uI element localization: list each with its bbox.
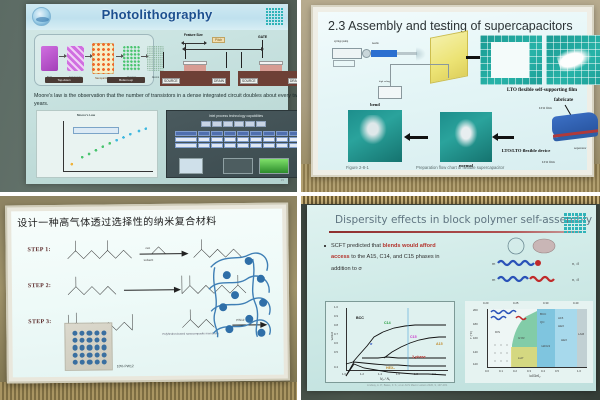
label-source-1: SOURCE <box>162 78 180 84</box>
arrow-to-normal <box>498 136 514 139</box>
membrane-sample-photo <box>64 322 113 371</box>
projection-screen: 设计一种高气体透过选择性的纳米复合材料 STEP 1: STEP 2: STEP… <box>11 209 284 378</box>
annotation-c14: C14 <box>384 321 391 325</box>
technology-roadmap-table: Intel process technology capabilities <box>166 110 297 178</box>
svg-text:cat.: cat. <box>146 246 151 250</box>
temperature-composition-phase-diagram: 0.20 0.25 0.30 0.40 200 180 160 140 120 … <box>465 301 593 383</box>
svg-text:m: m <box>492 261 496 266</box>
step-2-label: STEP 2: <box>28 283 51 289</box>
display-frame: 2.3 Assembly and testing of supercapacit… <box>311 5 594 177</box>
label-fabricate: fabricate <box>554 98 573 103</box>
step-1-label: STEP 1: <box>28 247 51 253</box>
arrow-to-film <box>466 56 480 59</box>
annotation-bcc: BCC <box>356 316 364 320</box>
panel-photolithography: Photolithography Bulk Fragments <box>0 0 297 192</box>
wood-slat-wall <box>0 382 297 400</box>
svg-text:LAM: LAM <box>578 332 585 336</box>
svg-text:n, đ: n, đ <box>572 277 579 282</box>
svg-text:GYR: GYR <box>518 336 525 340</box>
figure-caption-text: Preparation flow chart of flexible super… <box>416 165 504 170</box>
label-feature-size: Feature Size <box>184 33 203 37</box>
photo-grid: Photolithography Bulk Fragments <box>0 0 600 400</box>
annotation-sigma: σ <box>370 342 372 346</box>
electrospinning-apparatus: syringe pump needle <box>332 38 424 82</box>
svg-text:\u03c3: \u03c3 <box>541 344 550 348</box>
label-drain-2: DRAIN <box>288 78 297 84</box>
wood-slat-wall <box>301 196 600 204</box>
annotation-hex: HEX₂ <box>386 366 395 370</box>
svg-text:DIS: DIS <box>495 330 500 334</box>
label-pitch: Pitch <box>212 37 225 43</box>
svg-text:BCC: BCC <box>540 312 547 316</box>
figure-number: Figure 2-8-1 <box>346 165 369 170</box>
lto-film-photo-2 <box>546 35 600 85</box>
label-gate: GATE <box>258 35 267 39</box>
page-title: Photolithography <box>26 7 288 22</box>
moores-law-chart: Moore's Law <box>36 110 158 178</box>
annotation-2phase: 2-phase <box>412 355 426 359</box>
svg-text:n, đ: n, đ <box>572 261 579 266</box>
label-drain-1: DRAIN <box>212 78 226 84</box>
panel-nanocomposite: 设计一种高气体透过选择性的纳米复合材料 STEP 1: STEP 2: STEP… <box>0 196 297 400</box>
flow-step-nanoparticles: Nanoparticles <box>92 43 114 74</box>
slide-page-number: 15 <box>281 178 284 182</box>
teal-grid-icon <box>266 8 283 25</box>
projection-screen: Photolithography Bulk Fragments <box>26 4 288 184</box>
transistor-cross-section: SOURCE DRAIN SOURCE DRAIN GATE Feature S… <box>160 34 297 86</box>
normal-device-photo <box>440 112 492 162</box>
flexible-device-illustration <box>552 112 600 146</box>
step-3-label: STEP 3: <box>28 319 51 325</box>
title-underline <box>329 231 581 233</box>
label-lto-film: LTO flexible self-supporting film <box>478 88 600 93</box>
collector-plate <box>430 30 468 83</box>
page-title: 设计一种高气体透过选择性的纳米复合材料 <box>17 212 217 229</box>
panel-supercapacitors: 2.3 Assembly and testing of supercapacit… <box>301 0 600 192</box>
flow-step-atoms: Atoms <box>136 46 153 71</box>
sample-label: 10% PW12 <box>117 364 134 368</box>
moores-law-text: Moore's law is the observation that the … <box>34 92 297 108</box>
annotation-a15: A15 <box>436 342 443 346</box>
citation-credit: Lindsay, A. P.; Bates, F. S.; et al. ACS… <box>367 384 448 387</box>
arrow-to-bend <box>410 136 428 139</box>
projection-screen: Dispersity effects in block polymer self… <box>307 205 596 391</box>
svg-text:A15: A15 <box>558 316 564 320</box>
top-down-bottom-up-nanoparticle-flow: Bulk Fragments Nanoparticles Clusters <box>34 34 154 86</box>
highlight-blends: blends would afford <box>383 243 436 249</box>
label-lto-film-top: LTO film <box>539 106 552 110</box>
label-source-2: SOURCE <box>240 78 258 84</box>
flow-step-fragments: Fragments <box>67 46 84 71</box>
label-device: LTO/LTO flexible device <box>498 148 554 153</box>
panel-block-polymer: Dispersity effects in block polymer self… <box>301 196 600 400</box>
label-separator: separator <box>574 146 586 150</box>
display-frame: 设计一种高气体透过选择性的纳米复合材料 STEP 1: STEP 2: STEP… <box>5 203 290 384</box>
annotation-c15: C15 <box>410 335 417 339</box>
lto-film-photo-1 <box>480 35 542 85</box>
phase-boundary-plot: 1.0 0.9 0.8 0.7 0.6 0.5 0.4 1.0 1.2 1.4 … <box>325 301 455 383</box>
polymer-network-illustration <box>205 249 276 340</box>
high-voltage-supply <box>378 86 402 99</box>
flow-label-bottom-up: Bottom-up <box>107 77 145 83</box>
flow-label-top-down: Top-down <box>45 77 83 83</box>
page-title: 2.3 Assembly and testing of supercapacit… <box>328 19 573 33</box>
label-bend: bend <box>348 102 402 107</box>
label-collector: collector <box>436 28 445 31</box>
svg-text:HEX: HEX <box>561 338 567 342</box>
highlight-access: access <box>331 254 350 260</box>
projection-screen: 2.3 Assembly and testing of supercapacit… <box>318 12 587 170</box>
teal-grid-icon <box>564 213 586 233</box>
svg-text:HEX: HEX <box>558 324 564 328</box>
page-title: Dispersity effects in block polymer self… <box>335 214 592 226</box>
bullet-text: SCFT predicted that blends would afford … <box>331 241 499 275</box>
block-copolymer-schematic: m m n, đ n, đ <box>492 237 588 293</box>
svg-text:m: m <box>492 277 496 282</box>
flow-step-bulk: Bulk <box>41 46 58 71</box>
bend-device-photo <box>348 110 402 162</box>
svg-text:LLP: LLP <box>518 356 523 360</box>
svg-text:solvent: solvent <box>144 258 154 262</box>
label-lto-film-bottom: LTO film <box>542 160 555 164</box>
bullet-marker <box>324 245 326 247</box>
